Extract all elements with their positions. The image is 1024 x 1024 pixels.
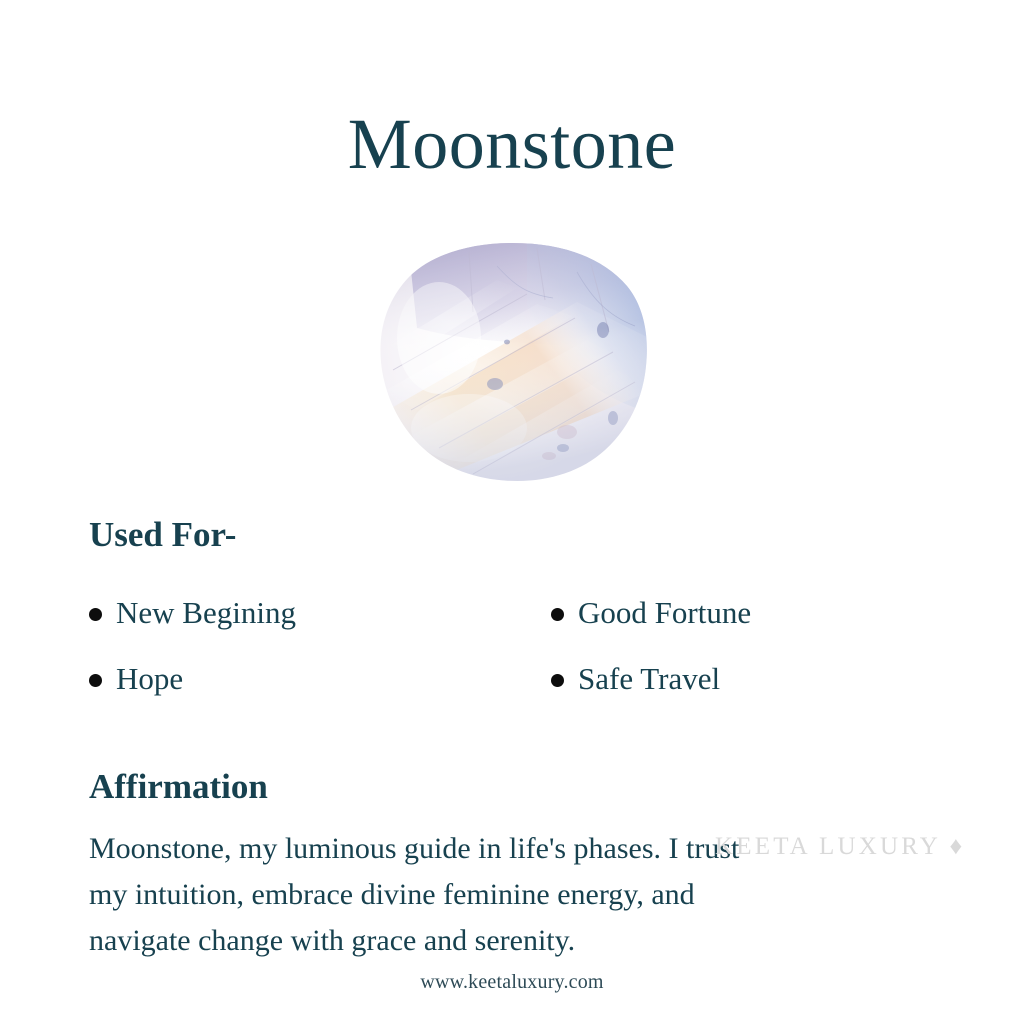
used-for-row: Hope Safe Travel [89,662,949,728]
page-title: Moonstone [0,108,1024,180]
list-item: New Begining [89,596,549,630]
bullet-icon [89,608,102,621]
list-item-label: Hope [116,662,183,696]
footer-website-url: www.keetaluxury.com [0,971,1024,994]
bullet-icon [89,674,102,687]
affirmation-line: Moonstone, my luminous guide in life's p… [89,826,919,872]
used-for-row: New Begining Good Fortune [89,596,949,662]
used-for-list: New Begining Good Fortune Hope Safe Trav… [89,596,949,728]
bullet-icon [551,608,564,621]
list-item: Safe Travel [549,662,949,696]
gemstone-info-card: Moonstone [0,0,1024,1024]
affirmation-text: Moonstone, my luminous guide in life's p… [89,826,919,964]
affirmation-heading: Affirmation [89,769,268,806]
list-item-label: Safe Travel [578,662,720,696]
gemstone-image [377,242,649,482]
used-for-heading: Used For- [89,517,236,554]
list-item: Hope [89,662,549,696]
list-item-label: New Begining [116,596,296,630]
bullet-icon [551,674,564,687]
list-item-label: Good Fortune [578,596,751,630]
affirmation-line: my intuition, embrace divine feminine en… [89,872,919,918]
moonstone-gem-icon [377,242,649,482]
list-item: Good Fortune [549,596,949,630]
affirmation-line: navigate change with grace and serenity. [89,918,919,964]
